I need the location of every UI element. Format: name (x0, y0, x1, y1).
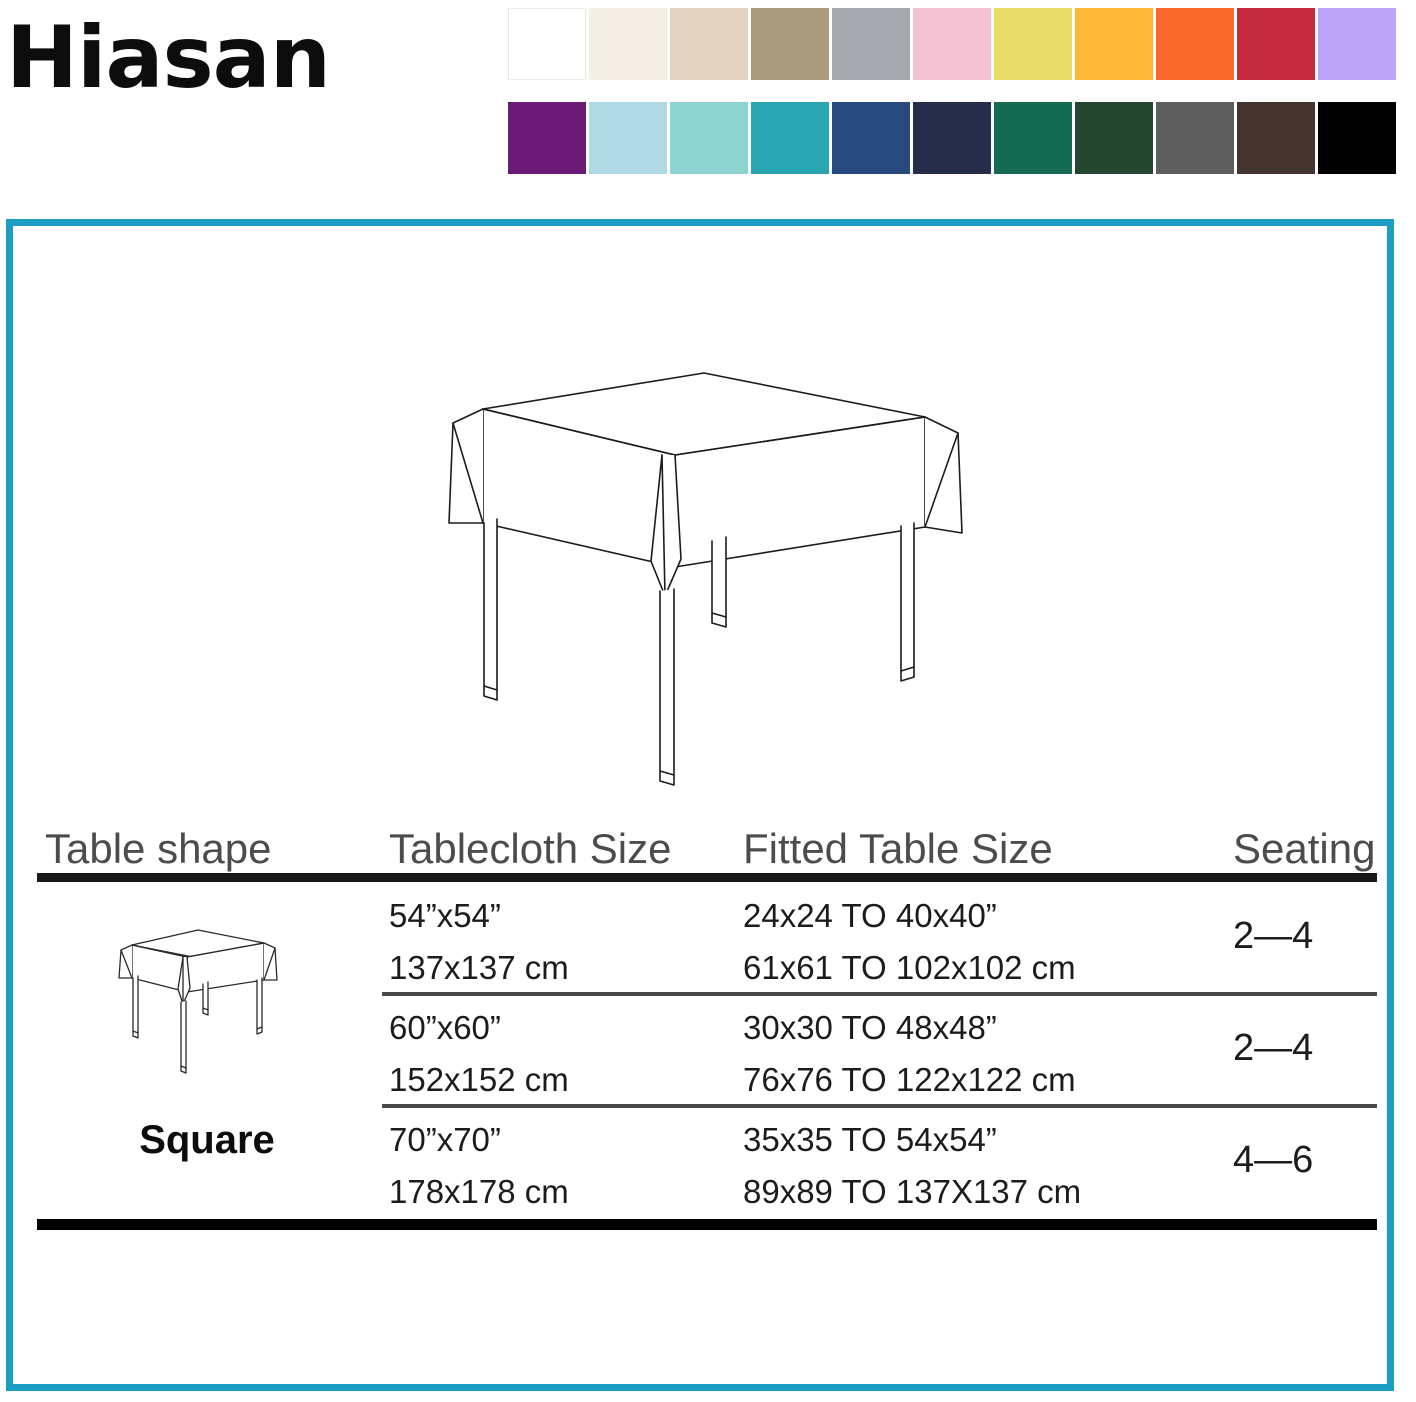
table-bottom-rule (37, 1219, 1377, 1230)
cell-fitted-table-size: 35x35 TO 54x54” 89x89 TO 137X137 cm (743, 1114, 1081, 1218)
brand-logo: Hiasan (6, 8, 330, 108)
table-row: 60”x60” 152x152 cm 30x30 TO 48x48” 76x76… (37, 996, 1377, 1108)
swatch-row-1 (508, 8, 1408, 80)
color-swatch-golden-yellow[interactable] (1075, 8, 1153, 80)
color-swatch-panel (508, 8, 1408, 196)
fitted-size-cm: 61x61 TO 102x102 cm (743, 942, 1076, 994)
fitted-size-inches: 24x24 TO 40x40” (743, 890, 1076, 942)
header-banner: Hiasan (0, 0, 1416, 200)
color-swatch-silver-gray[interactable] (832, 8, 910, 80)
color-swatch-charcoal-gray[interactable] (1156, 102, 1234, 174)
tablecloth-size-cm: 152x152 cm (389, 1054, 569, 1106)
color-swatch-aqua[interactable] (670, 102, 748, 174)
color-swatch-midnight-navy[interactable] (913, 102, 991, 174)
column-header-table-shape: Table shape (45, 825, 272, 873)
tablecloth-size-cm: 178x178 cm (389, 1166, 569, 1218)
cell-fitted-table-size: 30x30 TO 48x48” 76x76 TO 122x122 cm (743, 1002, 1076, 1106)
tablecloth-size-inches: 60”x60” (389, 1002, 569, 1054)
column-header-tablecloth-size: Tablecloth Size (389, 825, 672, 873)
size-spec-table: Table shape Tablecloth Size Fitted Table… (37, 811, 1377, 1219)
size-guide-card: Table shape Tablecloth Size Fitted Table… (6, 219, 1394, 1391)
table-header-rule (37, 873, 1377, 882)
color-swatch-black[interactable] (1318, 102, 1396, 174)
color-swatch-teal[interactable] (751, 102, 829, 174)
tablecloth-size-inches: 54”x54” (389, 890, 569, 942)
tablecloth-size-cm: 137x137 cm (389, 942, 569, 994)
fitted-size-cm: 89x89 TO 137X137 cm (743, 1166, 1081, 1218)
cell-seating: 2—4 (1233, 910, 1313, 962)
color-swatch-navy-blue[interactable] (832, 102, 910, 174)
cell-tablecloth-size: 54”x54” 137x137 cm (389, 890, 569, 994)
color-swatch-lemon-yellow[interactable] (994, 8, 1072, 80)
table-body: Square 54”x54” 137x137 cm 24x24 TO 40x40… (37, 882, 1377, 1219)
color-swatch-forest-green[interactable] (1075, 102, 1153, 174)
swatch-row-2 (508, 102, 1408, 174)
table-row: 54”x54” 137x137 cm 24x24 TO 40x40” 61x61… (37, 884, 1377, 996)
color-swatch-crimson-red[interactable] (1237, 8, 1315, 80)
column-header-seating: Seating (1233, 825, 1375, 873)
table-header-row: Table shape Tablecloth Size Fitted Table… (37, 811, 1377, 873)
color-swatch-orange[interactable] (1156, 8, 1234, 80)
cell-seating: 4—6 (1233, 1134, 1313, 1186)
cell-tablecloth-size: 60”x60” 152x152 cm (389, 1002, 569, 1106)
color-swatch-beige[interactable] (670, 8, 748, 80)
fitted-size-inches: 30x30 TO 48x48” (743, 1002, 1076, 1054)
cell-tablecloth-size: 70”x70” 178x178 cm (389, 1114, 569, 1218)
cell-fitted-table-size: 24x24 TO 40x40” 61x61 TO 102x102 cm (743, 890, 1076, 994)
fitted-size-inches: 35x35 TO 54x54” (743, 1114, 1081, 1166)
fitted-size-cm: 76x76 TO 122x122 cm (743, 1054, 1076, 1106)
color-swatch-emerald-green[interactable] (994, 102, 1072, 174)
color-swatch-white[interactable] (508, 8, 586, 80)
color-swatch-ivory[interactable] (589, 8, 667, 80)
table-row: 70”x70” 178x178 cm 35x35 TO 54x54” 89x89… (37, 1108, 1377, 1220)
color-swatch-light-blue[interactable] (589, 102, 667, 174)
color-swatch-purple[interactable] (508, 102, 586, 174)
color-swatch-khaki[interactable] (751, 8, 829, 80)
color-swatch-blush-pink[interactable] (913, 8, 991, 80)
hero-table-illustration (413, 351, 993, 811)
color-swatch-dark-brown[interactable] (1237, 102, 1315, 174)
tablecloth-size-inches: 70”x70” (389, 1114, 569, 1166)
column-header-fitted-table-size: Fitted Table Size (743, 825, 1053, 873)
cell-seating: 2—4 (1233, 1022, 1313, 1074)
color-swatch-lavender[interactable] (1318, 8, 1396, 80)
